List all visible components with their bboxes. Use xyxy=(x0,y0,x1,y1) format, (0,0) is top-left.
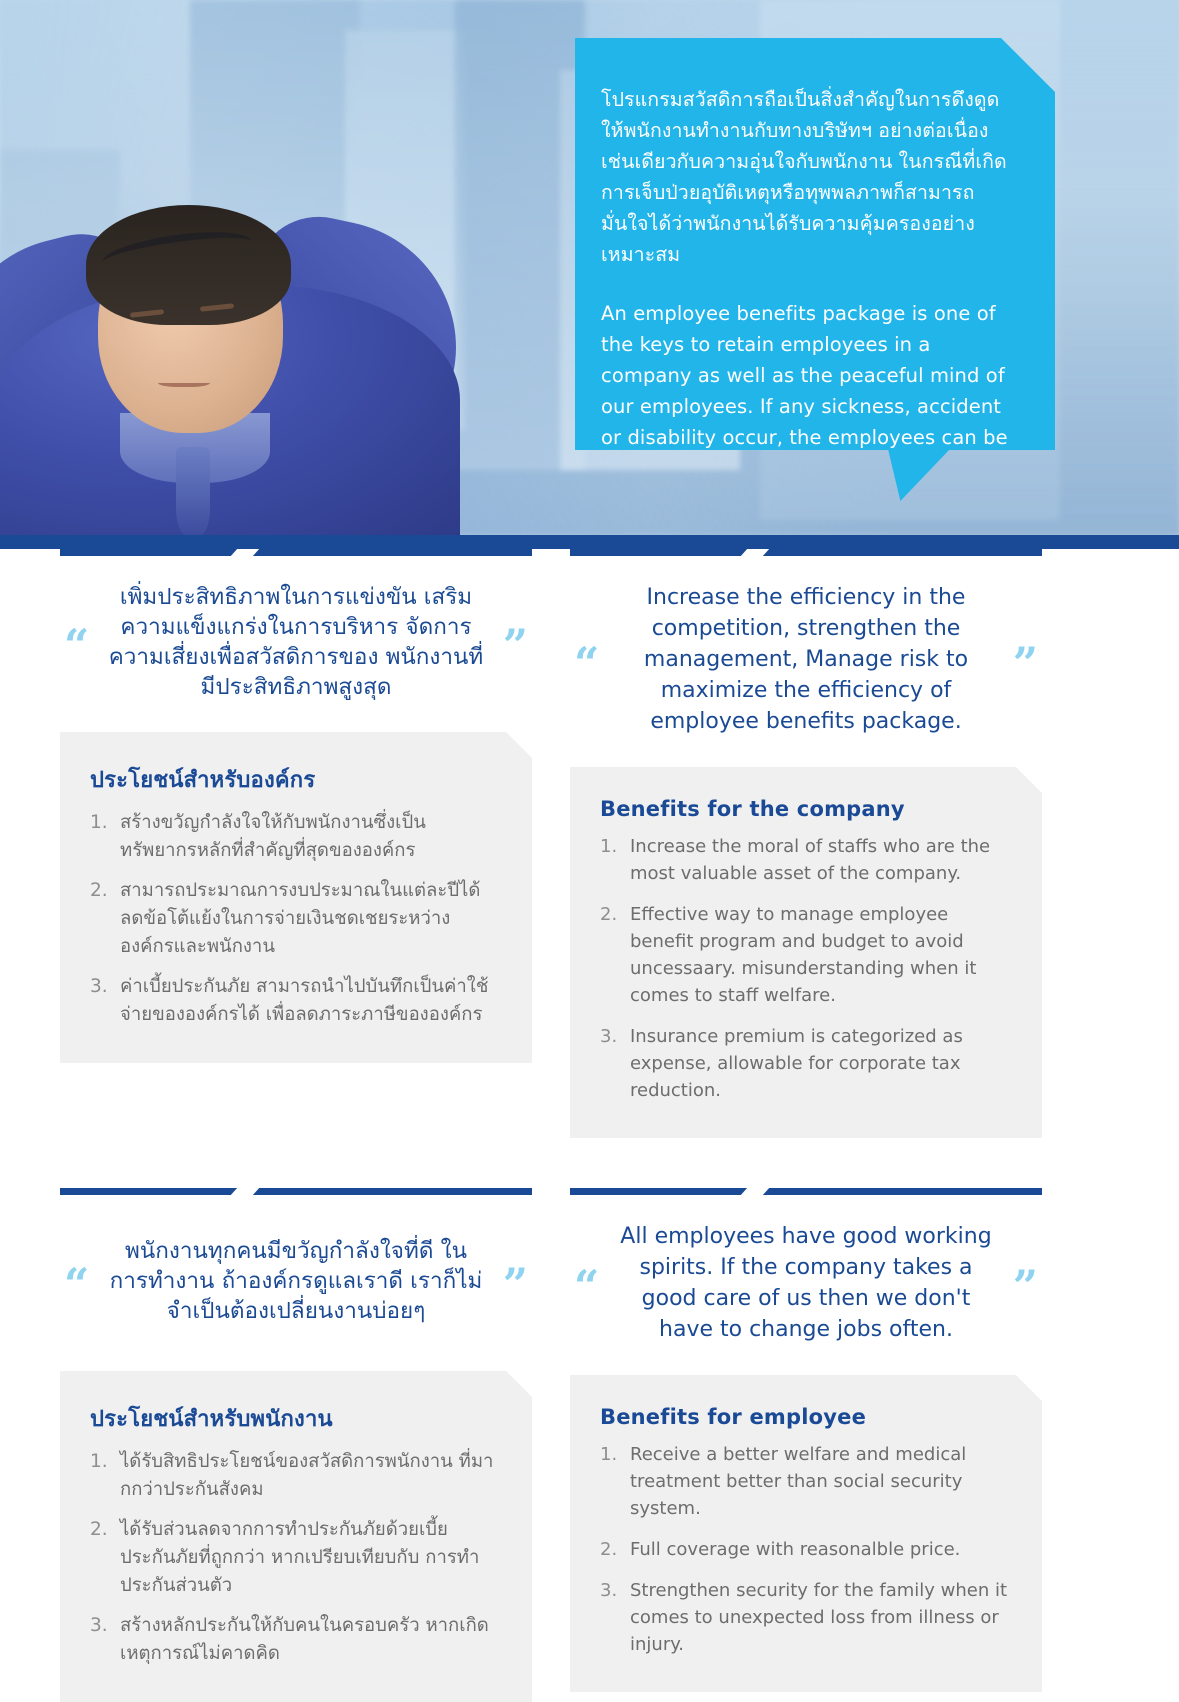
hero-banner: โปรแกรมสวัสดิการถือเป็นสิ่งสำคัญในการดึง… xyxy=(0,0,1179,535)
list-item: Receive a better welfare and medical tre… xyxy=(600,1441,1008,1522)
quote-text: Increase the efficiency in the competiti… xyxy=(616,582,996,737)
quote-close-icon: ” xyxy=(503,1263,528,1307)
necktie xyxy=(176,447,210,535)
quote-block-english-company: “ Increase the efficiency in the competi… xyxy=(570,582,1042,737)
quote-text: All employees have good working spirits.… xyxy=(616,1221,996,1345)
card-title: ประโยชน์สำหรับองค์กร xyxy=(90,762,498,797)
list-item: สร้างขวัญกำลังใจให้กับพนักงานซึ่งเป็นทรั… xyxy=(90,809,498,865)
benefits-card-thai-employee: ประโยชน์สำหรับพนักงาน ได้รับสิทธิประโยชน… xyxy=(60,1371,532,1702)
accent-bar xyxy=(570,1188,1042,1195)
list-item: ได้รับสิทธิประโยชน์ของสวัสดิการพนักงาน ท… xyxy=(90,1448,498,1504)
column-thai-company: “ เพิ่มประสิทธิภาพในการแข่งขัน เสริมความ… xyxy=(60,549,532,1138)
benefits-list: Receive a better welfare and medical tre… xyxy=(600,1441,1008,1658)
column-english-employee: “ All employees have good working spirit… xyxy=(570,1188,1042,1702)
smile xyxy=(158,377,210,387)
relaxed-employee-photo xyxy=(0,185,460,535)
column-english-company: “ Increase the efficiency in the competi… xyxy=(570,549,1042,1138)
list-item: ค่าเบี้ยประกันภัย สามารถนำไปบันทึกเป็นค่… xyxy=(90,973,498,1029)
accent-bar xyxy=(570,549,1042,556)
list-item: สร้างหลักประกันให้กับคนในครอบครัว หากเกิ… xyxy=(90,1612,498,1668)
accent-bar xyxy=(60,549,532,556)
card-title: Benefits for employee xyxy=(600,1405,1008,1429)
benefits-row-employee: “ พนักงานทุกคนมีขวัญกำลังใจที่ดี ในการทำ… xyxy=(0,1188,1179,1702)
card-title: ประโยชน์สำหรับพนักงาน xyxy=(90,1401,498,1436)
benefits-list: ได้รับสิทธิประโยชน์ของสวัสดิการพนักงาน ท… xyxy=(90,1448,498,1668)
intro-text-thai: โปรแกรมสวัสดิการถือเป็นสิ่งสำคัญในการดึง… xyxy=(601,84,1009,270)
quote-block-english-employee: “ All employees have good working spirit… xyxy=(570,1221,1042,1345)
quote-close-icon: ” xyxy=(1013,642,1038,686)
quote-open-icon: “ xyxy=(64,1263,89,1307)
quote-close-icon: ” xyxy=(503,624,528,668)
quote-close-icon: ” xyxy=(1013,1265,1038,1309)
card-title: Benefits for the company xyxy=(600,797,1008,821)
benefits-row-company: “ เพิ่มประสิทธิภาพในการแข่งขัน เสริมความ… xyxy=(0,549,1179,1138)
content-area: “ เพิ่มประสิทธิภาพในการแข่งขัน เสริมความ… xyxy=(0,549,1179,1702)
quote-open-icon: “ xyxy=(574,642,599,686)
benefits-card-thai-company: ประโยชน์สำหรับองค์กร สร้างขวัญกำลังใจให้… xyxy=(60,732,532,1063)
quote-block-thai-company: “ เพิ่มประสิทธิภาพในการแข่งขัน เสริมความ… xyxy=(60,582,532,702)
quote-text: พนักงานทุกคนมีขวัญกำลังใจที่ดี ในการทำงา… xyxy=(106,1236,486,1326)
quote-block-thai-employee: “ พนักงานทุกคนมีขวัญกำลังใจที่ดี ในการทำ… xyxy=(60,1221,532,1341)
list-item: Strengthen security for the family when … xyxy=(600,1577,1008,1658)
intro-speech-bubble: โปรแกรมสวัสดิการถือเป็นสิ่งสำคัญในการดึง… xyxy=(575,38,1055,450)
list-item: Insurance premium is categorized as expe… xyxy=(600,1023,1008,1104)
paragraph-spacer xyxy=(601,270,1009,298)
list-item: Increase the moral of staffs who are the… xyxy=(600,833,1008,887)
list-item: ได้รับส่วนลดจากการทำประกันภัยด้วยเบี้ยปร… xyxy=(90,1516,498,1600)
list-item: สามารถประมาณการงบประมาณในแต่ละปีได้ ลดข้… xyxy=(90,877,498,961)
benefits-card-english-employee: Benefits for employee Receive a better w… xyxy=(570,1375,1042,1692)
benefits-list: สร้างขวัญกำลังใจให้กับพนักงานซึ่งเป็นทรั… xyxy=(90,809,498,1029)
hero-bottom-navy-divider xyxy=(0,535,1179,549)
quote-open-icon: “ xyxy=(574,1265,599,1309)
quote-text: เพิ่มประสิทธิภาพในการแข่งขัน เสริมความแข… xyxy=(106,582,486,702)
benefits-list: Increase the moral of staffs who are the… xyxy=(600,833,1008,1104)
accent-bar xyxy=(60,1188,532,1195)
benefits-card-english-company: Benefits for the company Increase the mo… xyxy=(570,767,1042,1138)
quote-open-icon: “ xyxy=(64,624,89,668)
list-item: Effective way to manage employee benefit… xyxy=(600,901,1008,1009)
column-thai-employee: “ พนักงานทุกคนมีขวัญกำลังใจที่ดี ในการทำ… xyxy=(60,1188,532,1702)
list-item: Full coverage with reasonalble price. xyxy=(600,1536,1008,1563)
